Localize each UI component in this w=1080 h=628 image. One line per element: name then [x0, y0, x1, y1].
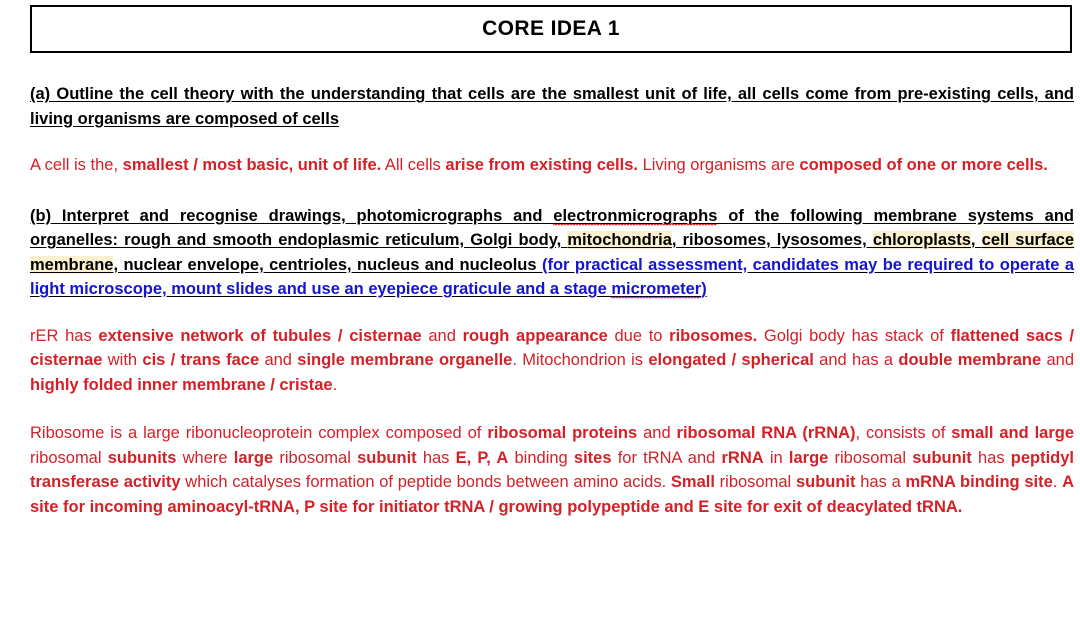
answer-run: and [1041, 351, 1074, 369]
answer-run-bold: mRNA binding site [906, 473, 1053, 491]
answer-run-bold: E, P, A [456, 449, 509, 467]
answer-paragraph-b2: Ribosome is a large ribonucleoprotein co… [30, 421, 1074, 519]
answer-run: and [259, 351, 297, 369]
answer-run: All cells [381, 156, 445, 174]
answer-run: ribosomal [828, 449, 912, 467]
answer-run: and [422, 327, 463, 345]
spacer-before-heading-b [30, 178, 1074, 204]
answer-run: Ribosome is a large ribonucleoprotein co… [30, 424, 487, 442]
syllabus-heading-a: (a) Outline the cell theory with the und… [30, 82, 1074, 131]
answer-run: A cell is the, [30, 156, 123, 174]
answer-run: has a [856, 473, 906, 491]
answer-run-bold: smallest / most basic, unit of life. [123, 156, 382, 174]
answer-run-bold: single membrane organelle [297, 351, 512, 369]
answer-run: due to [608, 327, 669, 345]
answer-run-bold: cis / trans face [142, 351, 259, 369]
core-idea-title-box: CORE IDEA 1 [30, 5, 1072, 53]
answer-run-bold: double membrane [898, 351, 1041, 369]
answer-run-bold: subunit [796, 473, 856, 491]
heading-run: , [971, 231, 982, 249]
answer-run-bold: composed of one or more cells. [799, 156, 1047, 174]
answer-run-bold: ribosomal RNA (rRNA) [677, 424, 856, 442]
answer-run: rER has [30, 327, 98, 345]
answer-run: ribosomal [715, 473, 796, 491]
practical-note-run: ) [701, 280, 707, 298]
answer-run: which catalyses formation of peptide bon… [181, 473, 671, 491]
spellcheck-flag-micrometer: micrometer [611, 280, 701, 300]
revision-note-page: CORE IDEA 1 (a) Outline the cell theory … [0, 0, 1080, 628]
answer-run-bold: large [789, 449, 828, 467]
highlight-chloroplasts: chloroplasts [873, 231, 971, 249]
answer-run-bold: elongated / spherical [648, 351, 814, 369]
spellcheck-flag-electronmicrographs: electronmicrographs [553, 207, 717, 227]
answer-run: with [102, 351, 142, 369]
heading-run: , nuclear envelope, centrioles, nucleus … [113, 256, 542, 274]
answer-run: and [637, 424, 676, 442]
answer-run-bold: subunit [912, 449, 972, 467]
answer-run: , consists of [856, 424, 952, 442]
spacer-between-answers [30, 397, 1074, 421]
syllabus-heading-b: (b) Interpret and recognise drawings, ph… [30, 204, 1074, 302]
answer-run-bold: arise from existing cells. [445, 156, 638, 174]
answer-run-bold: ribosomal proteins [487, 424, 637, 442]
answer-run-bold: Small [671, 473, 715, 491]
answer-run-bold: extensive network of tubules / cisternae [98, 327, 421, 345]
answer-run-bold: rough appearance [463, 327, 608, 345]
spacer-after-heading-a [30, 131, 1074, 153]
answer-run: has [417, 449, 456, 467]
answer-run: for tRNA and [612, 449, 722, 467]
answer-run-bold: small and large [951, 424, 1074, 442]
answer-run: . [1053, 473, 1062, 491]
answer-run: and has a [814, 351, 898, 369]
answer-run-bold: large [234, 449, 273, 467]
answer-run: . [333, 376, 338, 394]
answer-run-bold: rRNA [722, 449, 764, 467]
answer-run: . Mitochondrion is [512, 351, 648, 369]
answer-run-bold: sites [574, 449, 612, 467]
heading-run: , ribosomes, lysosomes, [672, 231, 873, 249]
answer-run-bold: subunit [357, 449, 417, 467]
answer-run: Living organisms are [638, 156, 799, 174]
answer-paragraph-a: A cell is the, smallest / most basic, un… [30, 153, 1074, 178]
note-content: (a) Outline the cell theory with the und… [30, 82, 1074, 519]
answer-run: ribosomal [273, 449, 357, 467]
answer-run: binding [508, 449, 574, 467]
answer-run-bold: ribosomes. [669, 327, 757, 345]
answer-run: has [972, 449, 1011, 467]
answer-run-bold: highly folded inner membrane / cristae [30, 376, 333, 394]
spacer-after-heading-b [30, 302, 1074, 324]
heading-run: (b) Interpret and recognise drawings, ph… [30, 207, 553, 225]
answer-run: in [764, 449, 789, 467]
page-title: CORE IDEA 1 [482, 17, 620, 41]
answer-run: where [176, 449, 233, 467]
answer-paragraph-b1: rER has extensive network of tubules / c… [30, 324, 1074, 398]
answer-run-bold: subunits [108, 449, 177, 467]
highlight-mitochondria: mitochondria [567, 231, 672, 249]
answer-run: ribosomal [30, 449, 108, 467]
answer-run: Golgi body has stack of [757, 327, 950, 345]
